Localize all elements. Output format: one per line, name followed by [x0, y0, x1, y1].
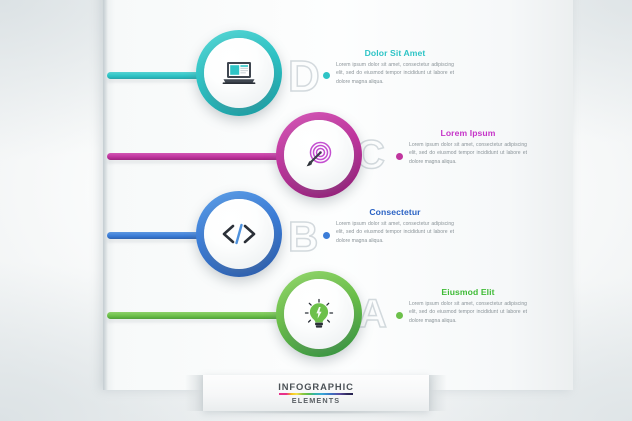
node-2[interactable]: [276, 112, 362, 198]
node-1-disc: [204, 38, 274, 108]
panel-left-edge: [103, 0, 108, 390]
footer-subtitle: ELEMENTS: [292, 397, 341, 404]
background-letter-a: A: [358, 292, 387, 337]
node-3[interactable]: [196, 191, 282, 277]
code-brackets-icon: [221, 222, 257, 246]
bullet-dot-3: [323, 232, 330, 239]
target-arrow-icon: [303, 139, 335, 171]
node-4[interactable]: [276, 271, 362, 357]
banner-wing-right: [429, 375, 447, 411]
item-1-title: Dolor Sit Amet: [336, 48, 454, 58]
item-2-title: Lorem Ipsum: [409, 128, 527, 138]
background-letter-b: B: [288, 213, 318, 261]
node-3-disc: [204, 199, 274, 269]
text-block-3: Consectetur Lorem ipsum dolor sit amet, …: [336, 207, 454, 245]
item-1-body: Lorem ipsum dolor sit amet, consectetur …: [336, 61, 454, 86]
bullet-dot-4: [396, 312, 403, 319]
footer-color-strip: [279, 393, 353, 396]
footer-title: INFOGRAPHIC: [278, 382, 354, 391]
banner-wing-left: [185, 375, 203, 411]
infographic-canvas: D C B A Dolor Sit Amet: [0, 0, 632, 421]
footer-banner: INFOGRAPHIC ELEMENTS: [203, 375, 429, 411]
node-4-disc: [284, 279, 354, 349]
text-block-2: Lorem Ipsum Lorem ipsum dolor sit amet, …: [409, 128, 527, 166]
bullet-dot-1: [323, 72, 330, 79]
node-2-disc: [284, 120, 354, 190]
text-block-1: Dolor Sit Amet Lorem ipsum dolor sit ame…: [336, 48, 454, 86]
item-4-body: Lorem ipsum dolor sit amet, consectetur …: [409, 300, 527, 325]
node-1[interactable]: [196, 30, 282, 116]
bullet-dot-2: [396, 153, 403, 160]
item-4-title: Eiusmod Elit: [409, 287, 527, 297]
lightbulb-icon: [303, 298, 335, 330]
background-letter-d: D: [288, 52, 320, 102]
item-2-body: Lorem ipsum dolor sit amet, consectetur …: [409, 141, 527, 166]
text-block-4: Eiusmod Elit Lorem ipsum dolor sit amet,…: [409, 287, 527, 325]
item-3-title: Consectetur: [336, 207, 454, 217]
item-3-body: Lorem ipsum dolor sit amet, consectetur …: [336, 220, 454, 245]
laptop-icon: [222, 60, 256, 86]
